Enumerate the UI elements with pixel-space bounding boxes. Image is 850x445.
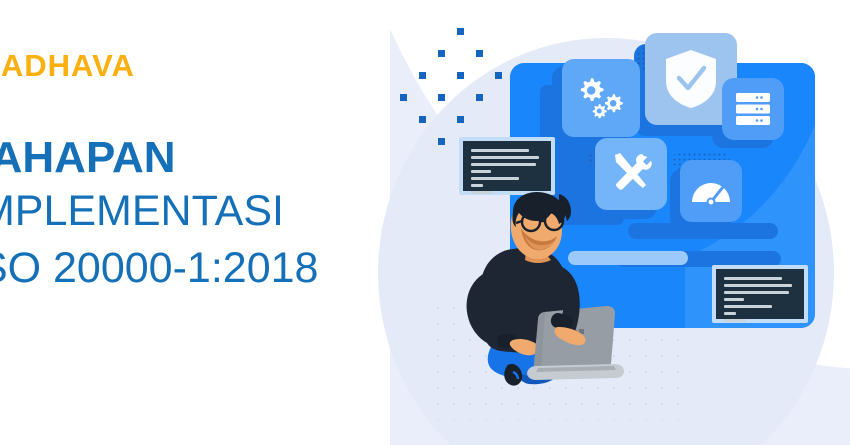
developer-sitting-with-laptop	[455, 190, 655, 395]
server-stack-icon	[733, 89, 773, 129]
gauge-icon	[690, 176, 732, 206]
title-line-1: TAHAPAN	[0, 132, 397, 184]
shield-check-icon	[662, 48, 720, 110]
illustration-banner: MADHAVA TAHAPAN IMPLEMENTASI ISO 20000-1…	[0, 0, 850, 445]
gears-icon	[575, 75, 627, 121]
title-line-3: ISO 20000-1:2018	[0, 239, 397, 297]
server-card	[722, 78, 784, 140]
title-line-2: IMPLEMENTASI	[0, 184, 397, 239]
page-title: TAHAPAN IMPLEMENTASI ISO 20000-1:2018	[0, 132, 397, 297]
brand-logo: MADHAVA	[0, 48, 135, 84]
code-window-right	[712, 265, 808, 323]
code-window-left	[459, 137, 555, 195]
gears-card	[562, 59, 640, 137]
gauge-card	[680, 160, 742, 222]
